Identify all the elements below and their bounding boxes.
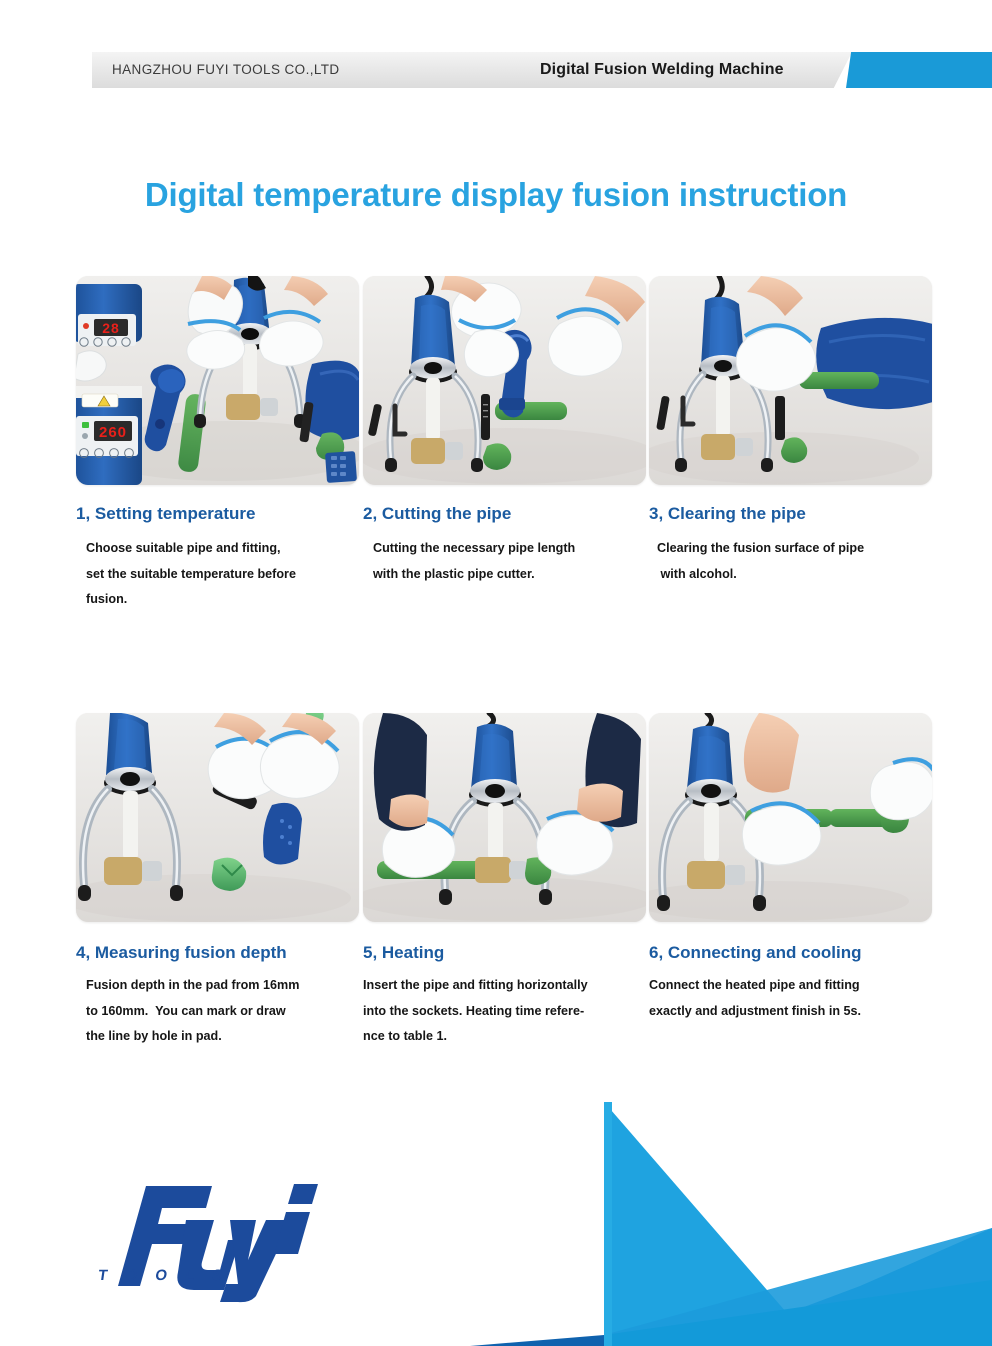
step-line: with alcohol. — [649, 562, 932, 588]
step-line: Choose suitable pipe and fitting, — [76, 536, 359, 562]
step-line: with the plastic pipe cutter. — [363, 562, 646, 588]
step-line: to 160mm. You can mark or draw — [76, 999, 359, 1025]
step-description: Choose suitable pipe and fitting, set th… — [76, 536, 359, 613]
company-logo: T O O L S — [90, 1178, 320, 1303]
page-title: Digital temperature display fusion instr… — [0, 176, 992, 214]
step-card-6: 6, Connecting and cooling Connect the he… — [649, 713, 932, 1024]
step-heading: 4, Measuring fusion depth — [76, 944, 359, 963]
step-line: Connect the heated pipe and fitting — [649, 973, 932, 999]
step-description: Fusion depth in the pad from 16mm to 160… — [76, 973, 359, 1050]
photo-connecting-cooling — [649, 713, 932, 922]
step-line: Cutting the necessary pipe length — [363, 536, 646, 562]
photo-clearing-pipe — [649, 276, 932, 485]
step-card-5: 5, Heating Insert the pipe and fitting h… — [363, 713, 646, 1050]
step-line: Clearing the fusion surface of pipe — [649, 536, 932, 562]
step-line: Insert the pipe and fitting horizontally — [363, 973, 646, 999]
page-header: HANGZHOU FUYI TOOLS CO.,LTD Digital Fusi… — [0, 52, 992, 88]
step-description: Cutting the necessary pipe length with t… — [363, 536, 646, 588]
step-line: into the sockets. Heating time refere- — [363, 999, 646, 1025]
step-description: Clearing the fusion surface of pipe with… — [649, 536, 932, 588]
step-heading: 6, Connecting and cooling — [649, 944, 932, 963]
photo-setting-temperature: 28 260 — [76, 276, 359, 485]
header-accent-shape — [846, 52, 992, 88]
step-line: fusion. — [76, 587, 359, 613]
page-root: HANGZHOU FUYI TOOLS CO.,LTD Digital Fusi… — [0, 0, 992, 1346]
step-heading: 2, Cutting the pipe — [363, 505, 646, 524]
photo-measuring-fusion-depth — [76, 713, 359, 922]
step-heading: 1, Setting temperature — [76, 505, 359, 524]
step-card-4: 4, Measuring fusion depth Fusion depth i… — [76, 713, 359, 1050]
step-heading: 3, Clearing the pipe — [649, 505, 932, 524]
svg-text:260: 260 — [99, 424, 127, 441]
step-heading: 5, Heating — [363, 944, 646, 963]
step-description: Insert the pipe and fitting horizontally… — [363, 973, 646, 1050]
step-line: exactly and adjustment finish in 5s. — [649, 999, 932, 1025]
photo-heating — [363, 713, 646, 922]
step-card-2: 2, Cutting the pipe Cutting the necessar… — [363, 276, 646, 587]
logo-subtext: T O O L S — [97, 1267, 230, 1284]
product-name: Digital Fusion Welding Machine — [540, 52, 784, 88]
step-line: Fusion depth in the pad from 16mm — [76, 973, 359, 999]
step-description: Connect the heated pipe and fitting exac… — [649, 973, 932, 1025]
step-line: the line by hole in pad. — [76, 1024, 359, 1050]
step-line: set the suitable temperature before — [76, 562, 359, 588]
step-card-3: 3, Clearing the pipe Clearing the fusion… — [649, 276, 932, 587]
svg-text:28: 28 — [102, 320, 120, 336]
step-line: nce to table 1. — [363, 1024, 646, 1050]
photo-cutting-pipe — [363, 276, 646, 485]
step-card-1: 28 260 — [76, 276, 359, 613]
company-name: HANGZHOU FUYI TOOLS CO.,LTD — [112, 52, 340, 88]
